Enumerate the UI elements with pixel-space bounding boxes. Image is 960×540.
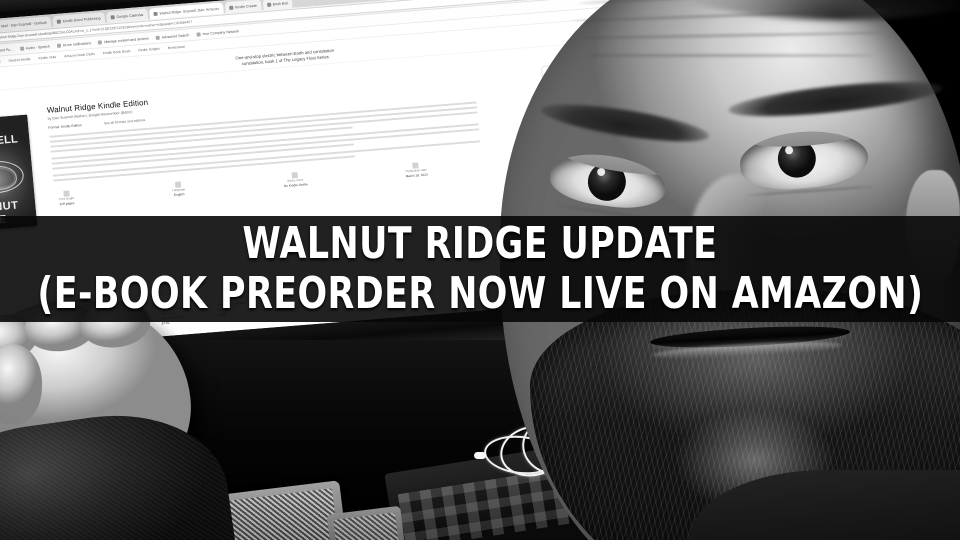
browser-tab-label: Kindle Direct Publishing bbox=[62, 16, 100, 23]
browser-tab-label: Walnut Ridge: Scamell, Dan: Amazon bbox=[159, 6, 219, 15]
spec-item: LanguageEnglish bbox=[171, 180, 186, 197]
video-thumbnail: Home | Microsoft 365 Mail - Dan Scamell … bbox=[0, 0, 960, 540]
browser-tab-label: Mail - Dan Scamell - Outlook bbox=[1, 20, 47, 28]
favicon-icon bbox=[56, 19, 60, 23]
spec-item: Publication dateMarch 18, 2024 bbox=[404, 160, 428, 178]
favicon-icon bbox=[267, 2, 271, 6]
bookmark-item[interactable]: Newsstand bbox=[168, 45, 185, 50]
favicon-icon bbox=[229, 5, 233, 9]
bookmark-item[interactable]: Ar.me notifications bbox=[57, 41, 92, 48]
thumb bbox=[0, 343, 43, 425]
bookmark-item[interactable]: Your Company Network bbox=[196, 29, 239, 36]
browser-tab-label: Google Calendar bbox=[116, 12, 143, 18]
format-label: Format: Kindle Edition bbox=[48, 123, 82, 130]
book-cover-image[interactable]: DAN SCAMELL WALNUT RIDGE bbox=[0, 114, 37, 231]
favicon-icon bbox=[110, 15, 114, 19]
bookmark-item[interactable]: Publishing - and Pu... bbox=[0, 47, 13, 54]
bookmark-item[interactable]: Audio - Speech bbox=[20, 44, 50, 50]
browser-tab-label: Kindle Create bbox=[235, 3, 257, 9]
spec-item: Print length328 pages bbox=[58, 189, 75, 206]
eyebrow-left bbox=[539, 97, 711, 149]
bookmark-item[interactable]: Send to Kindle bbox=[8, 57, 30, 63]
cover-brain-illustration bbox=[0, 159, 25, 195]
eyebrow-right bbox=[727, 75, 944, 123]
eye-left bbox=[547, 148, 669, 214]
bookmark-item[interactable]: Advanced Search bbox=[156, 33, 190, 40]
bookmark-item[interactable]: Amazon Book Clubs bbox=[64, 52, 95, 58]
title-banner: WALNUT RIDGE UPDATE (E-BOOK PREORDER NOW… bbox=[0, 216, 960, 322]
bookmark-item[interactable]: Categories bbox=[0, 59, 1, 64]
earbud-left bbox=[474, 452, 486, 459]
bookmark-item[interactable]: Kindle Vella bbox=[38, 55, 56, 60]
cover-author-last: SCAMELL bbox=[0, 133, 18, 149]
browser-tab-label: Book Bub bbox=[273, 1, 289, 6]
bookmark-item[interactable]: Manage content and devices bbox=[98, 36, 149, 44]
title-line-2: (E-BOOK PREORDER NOW LIVE ON AMAZON) bbox=[37, 272, 923, 316]
spec-item: Sticky notesOn Kindle Scribe bbox=[283, 170, 308, 188]
bookmark-item[interactable]: Kindle Book Deals bbox=[103, 49, 131, 55]
title-line-1: WALNUT RIDGE UPDATE bbox=[242, 222, 717, 266]
bookmark-item[interactable]: Kindle Singles bbox=[138, 47, 160, 53]
favicon-icon bbox=[153, 11, 157, 15]
all-formats-link[interactable]: See all formats and editions bbox=[103, 118, 145, 125]
